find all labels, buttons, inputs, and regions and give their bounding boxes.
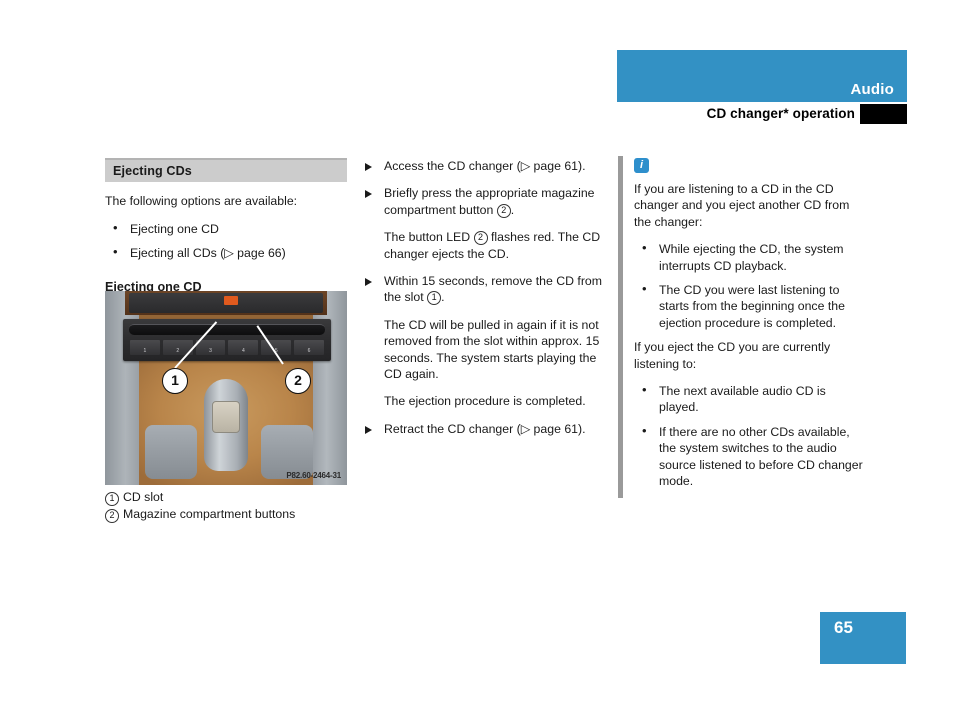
list-item: If there are no other CDs available, the…	[634, 424, 866, 490]
note-paragraph-1: If you are listening to a CD in the CD c…	[634, 181, 866, 230]
step-result: The ejection procedure is completed.	[364, 393, 602, 409]
dashboard-button-strip	[129, 293, 323, 313]
callout-marker-1: 1	[162, 368, 188, 394]
note-bullets-2: The next available audio CD is played. I…	[634, 383, 866, 489]
circled-number-icon: 2	[497, 204, 511, 218]
caption-label: CD slot	[123, 490, 163, 504]
caption-line: 2Magazine compartment buttons	[105, 506, 355, 523]
magazine-button: 4	[228, 340, 258, 355]
figure-part-code: P82.60-2464-31	[286, 471, 341, 480]
step-text-after: .	[511, 203, 514, 217]
procedure-steps: Access the CD changer (▷ page 61). Brief…	[364, 158, 602, 437]
cd-changer-unit: 1 2 3 4 5 6	[123, 319, 331, 361]
header-subtitle: CD changer* operation	[617, 106, 855, 121]
step-text-after: .	[441, 290, 444, 304]
step-result: The CD will be pulled in again if it is …	[364, 317, 602, 383]
magazine-button: 6	[294, 340, 324, 355]
right-column: i If you are listening to a CD in the CD…	[634, 158, 866, 498]
caption-label: Magazine compartment buttons	[123, 507, 295, 521]
gear-shift-lever	[204, 379, 248, 471]
page-number-box: 65	[820, 612, 906, 664]
chapter-tab-marker	[860, 104, 907, 124]
magazine-button: 1	[130, 340, 160, 355]
circled-number-icon: 2	[474, 231, 488, 245]
callout-marker-2: 2	[285, 368, 311, 394]
section-heading: Ejecting CDs	[105, 158, 347, 182]
options-list: Ejecting one CD Ejecting all CDs (▷ page…	[105, 221, 347, 262]
header-title: Audio	[851, 81, 895, 98]
note-bullets-1: While ejecting the CD, the system interr…	[634, 241, 866, 331]
center-console-photo: 1 2 3 4 5 6 1 2 P82.60-2464-31	[105, 291, 347, 485]
console-control-left	[145, 425, 197, 479]
magazine-button: 3	[196, 340, 226, 355]
step-item: Access the CD changer (▷ page 61).	[364, 158, 602, 174]
cd-slot	[129, 324, 325, 335]
info-icon: i	[634, 158, 649, 173]
step-item: Retract the CD changer (▷ page 61).	[364, 421, 602, 437]
left-column: Ejecting CDs The following options are a…	[105, 158, 347, 304]
page-number: 65	[834, 618, 853, 638]
figure-caption: 1CD slot 2Magazine compartment buttons	[105, 489, 355, 523]
step-text-before: Briefly press the appropriate magazine c…	[384, 186, 595, 216]
step-text-before: Within 15 seconds, remove the CD from th…	[384, 274, 602, 304]
hazard-light-button	[224, 296, 238, 305]
note-vertical-rule	[618, 156, 623, 498]
step-result: The button LED 2 flashes red. The CD cha…	[364, 229, 602, 262]
note-paragraph-2: If you eject the CD you are currently li…	[634, 339, 866, 372]
list-item: Ejecting one CD	[105, 221, 347, 237]
list-item: The next available audio CD is played.	[634, 383, 866, 416]
header-banner: Audio	[617, 50, 907, 102]
shift-gate-display	[212, 401, 240, 433]
list-item: The CD you were last listening to starts…	[634, 282, 866, 331]
middle-column: Access the CD changer (▷ page 61). Brief…	[364, 158, 602, 448]
circled-number-icon: 1	[105, 492, 119, 506]
circled-number-icon: 2	[105, 509, 119, 523]
list-item: Ejecting all CDs (▷ page 66)	[105, 245, 347, 261]
step-item: Within 15 seconds, remove the CD from th…	[364, 273, 602, 306]
list-item: While ejecting the CD, the system interr…	[634, 241, 866, 274]
step-item: Briefly press the appropriate magazine c…	[364, 185, 602, 218]
magazine-button-row: 1 2 3 4 5 6	[130, 340, 324, 355]
circled-number-icon: 1	[427, 291, 441, 305]
caption-line: 1CD slot	[105, 489, 355, 506]
result-text-before: The button LED	[384, 230, 474, 244]
intro-paragraph: The following options are available:	[105, 193, 347, 209]
